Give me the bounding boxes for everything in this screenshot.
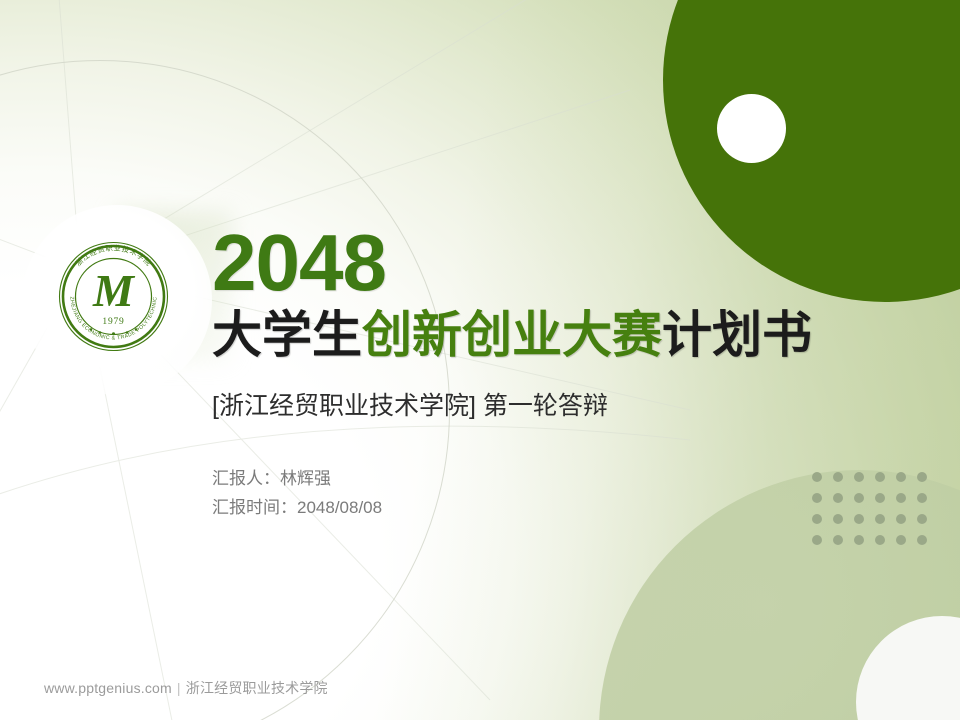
title-slide: 浙江经贸职业技术学院 ZHEJIANG ECONOMIC & TRADE POL… — [0, 0, 960, 720]
main-title-part-2: 创新创业大赛 — [362, 307, 662, 363]
presenter-line: 汇报人：林辉强 — [212, 464, 912, 493]
small-white-circle-decoration — [717, 94, 786, 163]
svg-text:M: M — [92, 265, 136, 316]
footer: www.pptgenius.com|浙江经贸职业技术学院 — [44, 678, 328, 698]
main-title: 大学生创新创业大赛计划书 — [212, 306, 912, 364]
svg-text:1979: 1979 — [102, 317, 124, 327]
university-logo-icon: 浙江经贸职业技术学院 ZHEJIANG ECONOMIC & TRADE POL… — [51, 234, 176, 359]
footer-website[interactable]: www.pptgenius.com — [44, 680, 172, 696]
year-heading: 2048 — [212, 222, 912, 304]
date-line: 汇报时间：2048/08/08 — [212, 493, 912, 522]
main-title-part-3: 计划书 — [662, 307, 812, 363]
subtitle: [浙江经贸职业技术学院] 第一轮答辩 — [212, 390, 912, 422]
presentation-meta: 汇报人：林辉强 汇报时间：2048/08/08 — [212, 464, 912, 522]
main-title-part-1: 大学生 — [212, 307, 362, 363]
footer-organization: 浙江经贸职业技术学院 — [186, 680, 328, 696]
title-text-block: 2048 大学生创新创业大赛计划书 [浙江经贸职业技术学院] 第一轮答辩 汇报人… — [212, 222, 912, 522]
footer-separator: | — [177, 680, 181, 696]
